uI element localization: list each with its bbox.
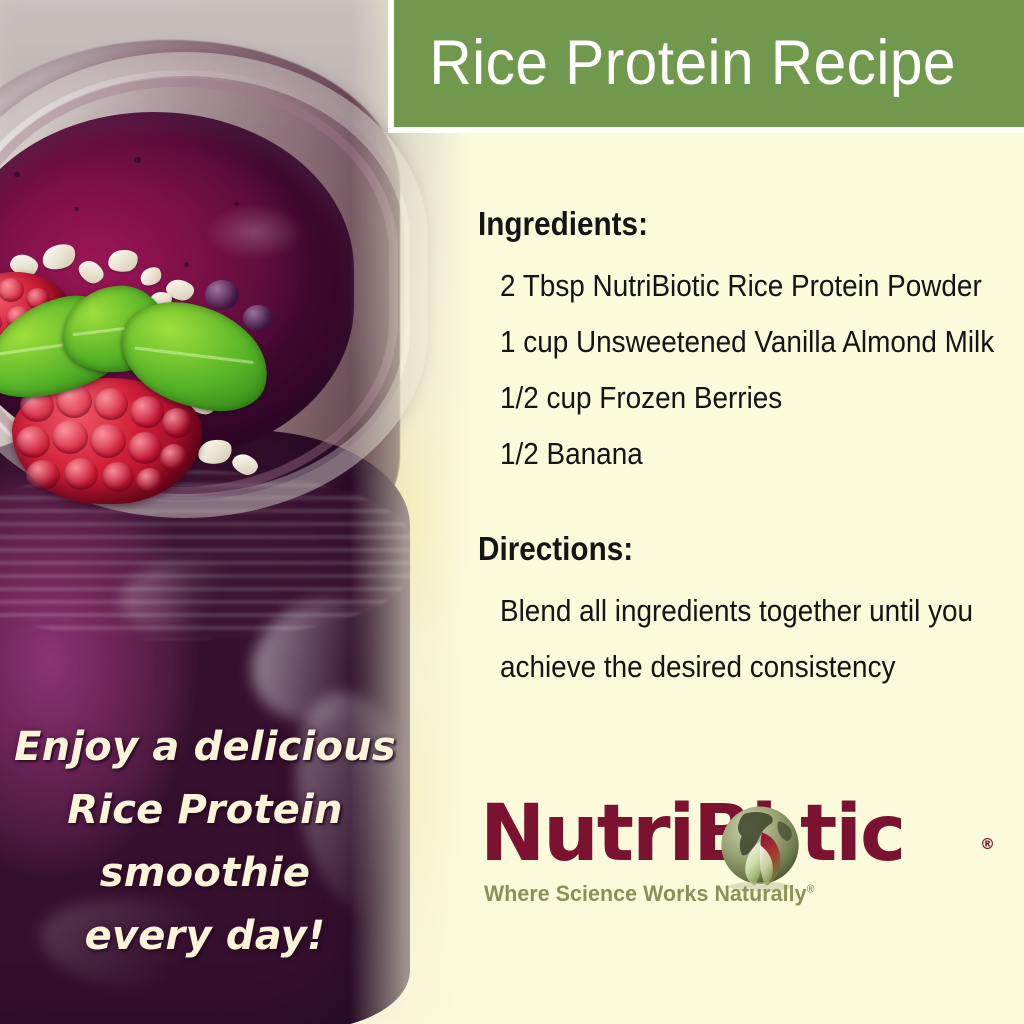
blueberry (243, 305, 273, 331)
blueberry (205, 280, 239, 310)
recipe-poster: Enjoy a delicious Rice Protein smoothie … (0, 0, 1024, 1024)
nutribiotic-logo: NutriBi (480, 793, 1000, 905)
page-title: Rice Protein Recipe (394, 32, 956, 95)
tagline-line-1: Enjoy a delicious (0, 716, 410, 779)
logo-registered-mark: ® (980, 835, 995, 853)
ingredient-item: 1/2 cup Frozen Berries (500, 370, 994, 426)
logo-tagline-text: Where Science Works Naturally (484, 881, 807, 906)
ingredient-item: 1/2 Banana (500, 426, 994, 482)
ingredients-list: 2 Tbsp NutriBiotic Rice Protein Powder 1… (500, 258, 1024, 482)
tagline-line-4: every day! (0, 905, 410, 968)
logo-tagline-mark: ® (807, 884, 815, 896)
ingredient-item: 2 Tbsp NutriBiotic Rice Protein Powder (500, 258, 994, 314)
logo-wordmark-right: tic (800, 793, 904, 875)
ingredients-heading: Ingredients: (478, 205, 648, 243)
berry-smoothie-photo: Enjoy a delicious Rice Protein smoothie … (0, 0, 470, 1024)
tagline-line-2: Rice Protein (0, 779, 410, 842)
ingredient-item: 1 cup Unsweetened Vanilla Almond Milk (500, 314, 994, 370)
title-banner: Rice Protein Recipe (388, 0, 1024, 133)
globe-leaf-icon (714, 801, 806, 893)
directions-list: Blend all ingredients together until you… (500, 583, 1024, 695)
directions-line: achieve the desired consistency (500, 639, 973, 695)
logo-tagline: Where Science Works Naturally® (484, 881, 815, 907)
directions-heading: Directions: (478, 530, 633, 568)
tagline-line-3: smoothie (0, 842, 410, 905)
photo-overlay-tagline: Enjoy a delicious Rice Protein smoothie … (0, 716, 410, 968)
directions-line: Blend all ingredients together until you (500, 583, 973, 639)
recipe-panel: Ingredients: 2 Tbsp NutriBiotic Rice Pro… (455, 133, 1024, 1024)
